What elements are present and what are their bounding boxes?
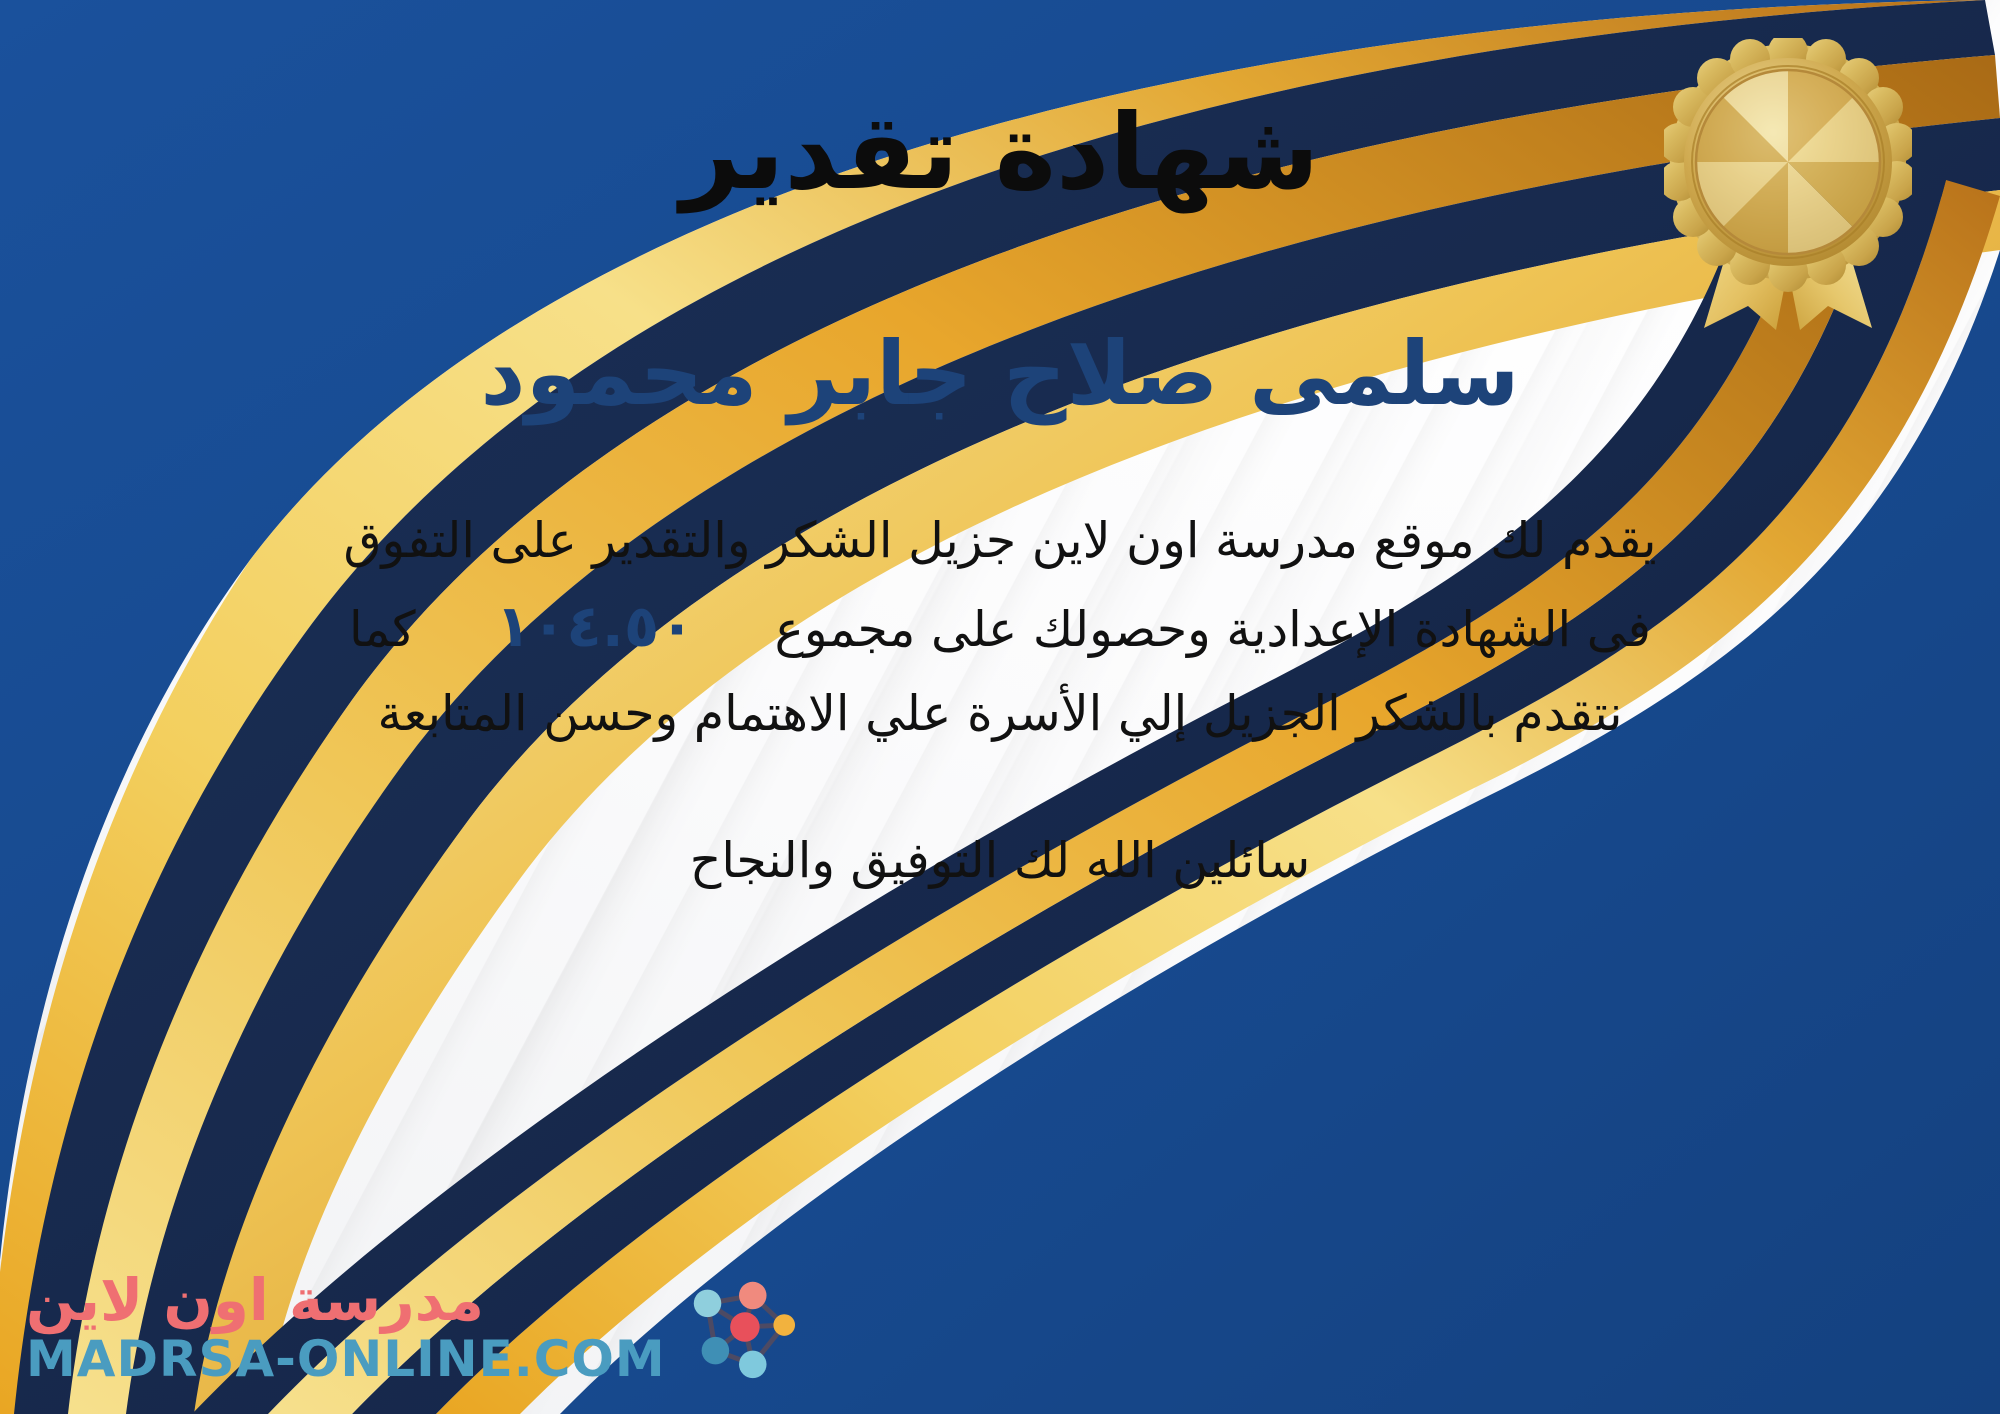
site-logo[interactable]: مدرسة اون لاين MADRSA-ONLINE.COM [26,1268,798,1386]
recipient-name: سلمى صلاح جابر محمود [480,326,1519,423]
certificate-content: شهادة تقدير سلمى صلاح جابر محمود يقدم لك… [0,0,2000,1414]
closing-line: سائلين الله لك التوفيق والنجاح [690,832,1310,889]
certificate-title: شهادة تقدير [681,96,1320,208]
total-score-value: ١٠٤.٥٠ [462,580,729,674]
logo-website-url: MADRSA-ONLINE.COM [26,1333,666,1386]
logo-text-block: مدرسة اون لاين MADRSA-ONLINE.COM [26,1268,666,1385]
body-line-3: نتقدم بالشكر الجزيل إلي الأسرة علي الاهت… [60,674,1940,753]
certificate-canvas: شهادة تقدير سلمى صلاح جابر محمود يقدم لك… [0,0,2000,1414]
body-line-2-suffix: كما [349,601,416,658]
logo-arabic-name: مدرسة اون لاين [26,1268,484,1333]
body-line-1: يقدم لك موقع مدرسة اون لاين جزيل الشكر و… [60,501,1940,580]
certificate-body: يقدم لك موقع مدرسة اون لاين جزيل الشكر و… [60,501,1940,754]
network-nodes-icon [680,1268,798,1386]
body-line-2-prefix: فى الشهادة الإعدادية وحصولك على مجموع [775,601,1651,658]
body-line-2: فى الشهادة الإعدادية وحصولك على مجموع١٠٤… [60,580,1940,674]
